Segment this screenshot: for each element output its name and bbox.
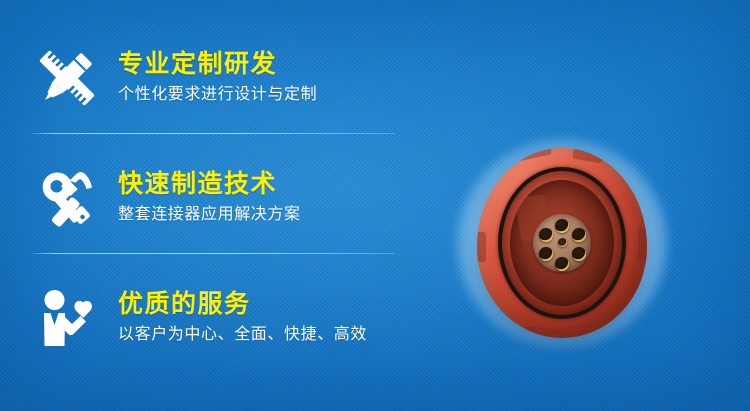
connector-pin bbox=[539, 247, 553, 261]
connector-insert bbox=[533, 214, 591, 272]
feature-list: 专业定制研发 个性化要求进行设计与定制 bbox=[0, 0, 420, 411]
feature-item-custom-development: 专业定制研发 个性化要求进行设计与定制 bbox=[0, 23, 420, 133]
feature-item-quality-service: 优质的服务 以客户为中心、全面、快捷、高效 bbox=[0, 263, 420, 373]
shell-notch bbox=[638, 228, 647, 260]
feature-text: 优质的服务 以客户为中心、全面、快捷、高效 bbox=[118, 290, 367, 346]
connector-pin bbox=[555, 219, 569, 233]
feature-subtitle: 以客户为中心、全面、快捷、高效 bbox=[118, 324, 367, 346]
feature-title: 优质的服务 bbox=[118, 290, 367, 320]
feature-title: 快速制造技术 bbox=[118, 170, 301, 200]
connector-oring bbox=[498, 167, 626, 319]
pencil-ruler-icon bbox=[30, 41, 104, 115]
wrench-hammer-icon bbox=[30, 161, 104, 235]
connector-bore bbox=[510, 180, 614, 306]
feature-divider bbox=[32, 133, 395, 134]
feature-item-rapid-manufacturing: 快速制造技术 整套连接器应用解决方案 bbox=[0, 143, 420, 253]
connector-shell bbox=[477, 148, 647, 338]
promo-banner: 专业定制研发 个性化要求进行设计与定制 bbox=[0, 0, 750, 411]
connector-pin bbox=[539, 228, 553, 242]
connector-pin bbox=[555, 257, 569, 271]
connector-pin bbox=[572, 247, 586, 261]
feature-divider bbox=[32, 253, 395, 254]
product-image-connector bbox=[452, 135, 672, 350]
shell-notch bbox=[514, 148, 552, 162]
connector-pin bbox=[572, 228, 586, 242]
shell-notch bbox=[524, 325, 565, 337]
shell-notch bbox=[477, 232, 486, 262]
feature-title: 专业定制研发 bbox=[118, 50, 317, 80]
connector-pin bbox=[558, 238, 567, 247]
person-heart-service-icon bbox=[30, 281, 104, 355]
feature-subtitle: 整套连接器应用解决方案 bbox=[118, 204, 301, 226]
feature-text: 快速制造技术 整套连接器应用解决方案 bbox=[118, 170, 301, 226]
feature-subtitle: 个性化要求进行设计与定制 bbox=[118, 84, 317, 106]
feature-text: 专业定制研发 个性化要求进行设计与定制 bbox=[118, 50, 317, 106]
